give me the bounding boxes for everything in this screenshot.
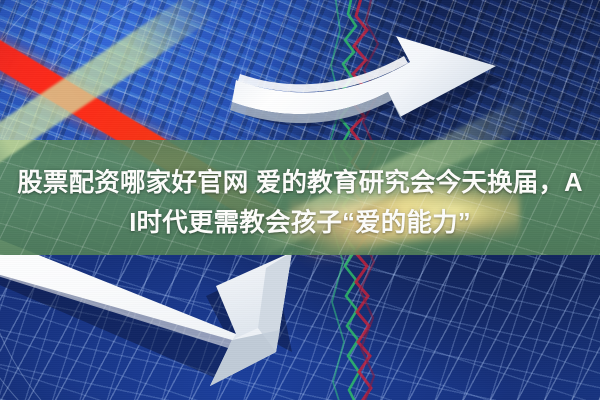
headline-line-1: 股票配资哪家好官网 爱的教育研究会今天换届，A — [8, 163, 592, 203]
headline-line-2: I时代更需教会孩子“爱的能力” — [8, 203, 592, 243]
image-canvas: 股票配资哪家好官网 爱的教育研究会今天换届，A I时代更需教会孩子“爱的能力” — [0, 0, 600, 400]
headline-text: 股票配资哪家好官网 爱的教育研究会今天换届，A I时代更需教会孩子“爱的能力” — [0, 163, 600, 243]
